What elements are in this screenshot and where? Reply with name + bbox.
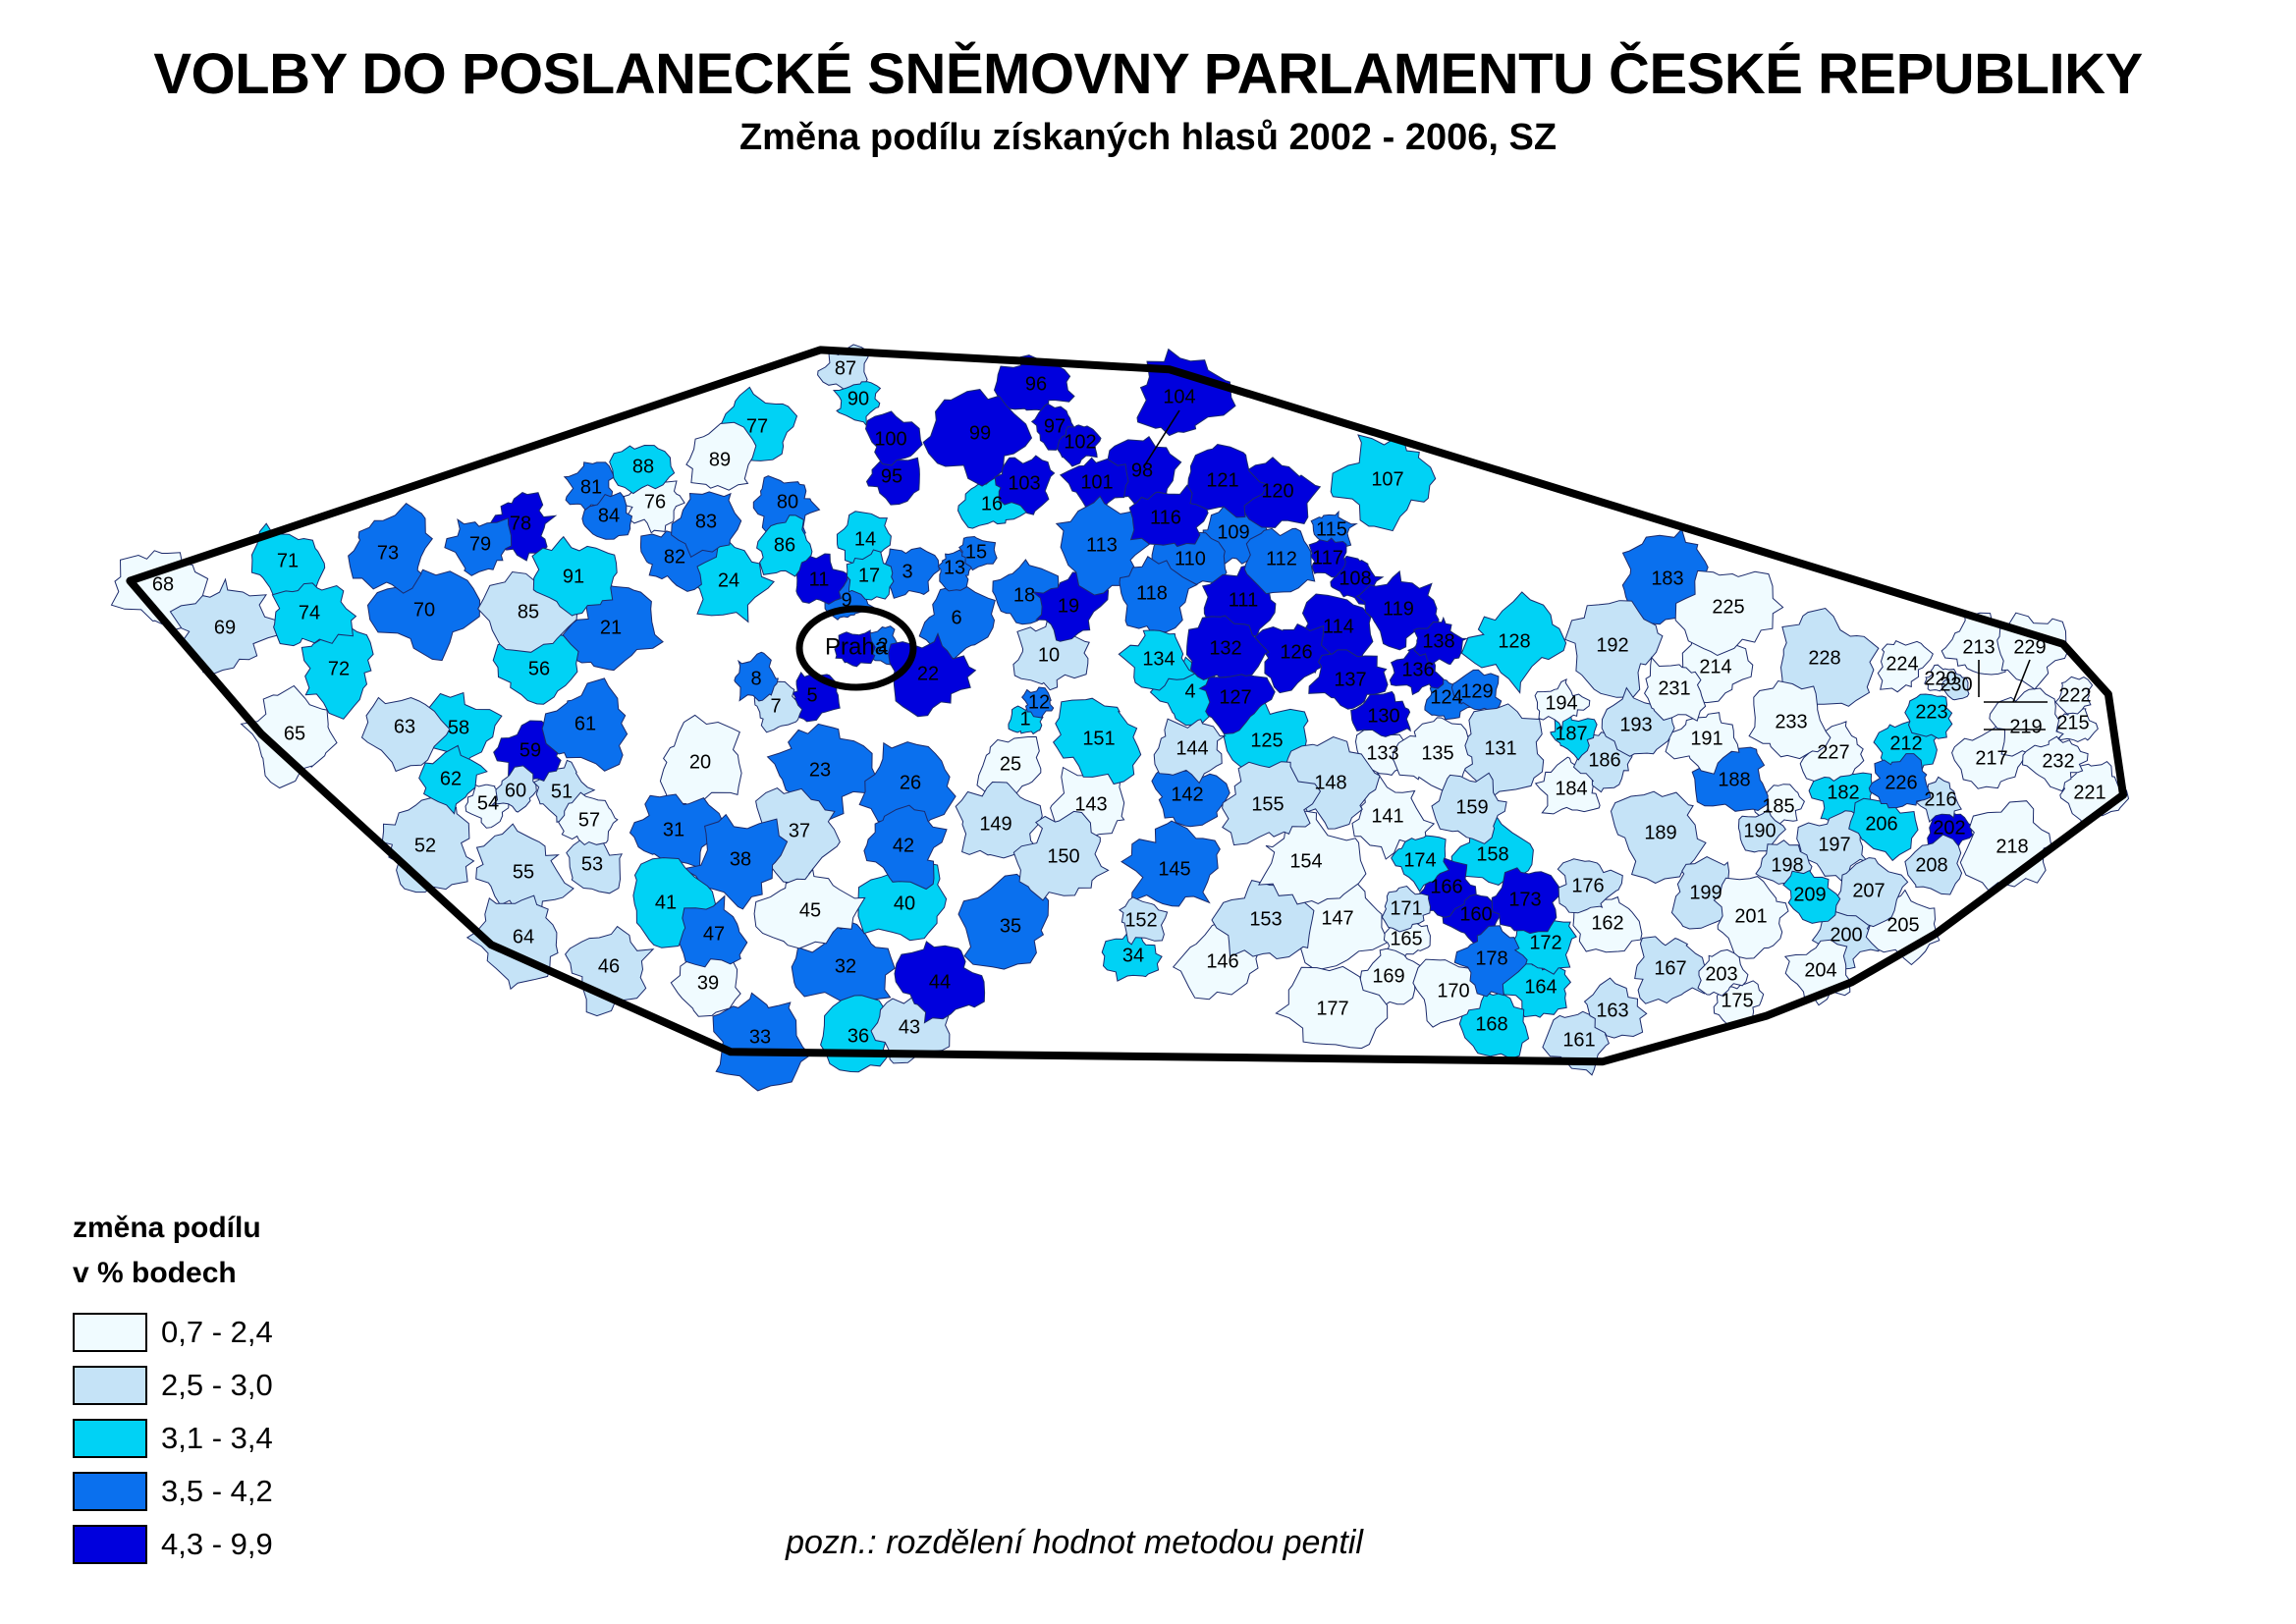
legend-swatch: [73, 1419, 147, 1458]
legend-label: 0,7 - 2,4: [161, 1315, 273, 1350]
map-region[interactable]: [566, 927, 654, 1016]
footnote: pozn.: rozdělení hodnot metodou pentil: [0, 1524, 2296, 1562]
map-region[interactable]: [2055, 677, 2092, 714]
legend-heading-line1: změna podílu: [73, 1206, 397, 1251]
footnote-text: pozn.: rozdělení hodnot metodou pentil: [786, 1524, 1363, 1562]
map-region[interactable]: [1137, 350, 1235, 436]
map-region[interactable]: [1714, 877, 1788, 959]
map-container: 1234567891011121314151617181920212223242…: [0, 187, 2296, 1345]
legend-swatch: [73, 1313, 147, 1352]
legend-row: 3,5 - 4,2: [73, 1465, 397, 1518]
legend-swatch: [73, 1472, 147, 1511]
map-region[interactable]: [467, 895, 558, 989]
map-region[interactable]: [866, 411, 923, 465]
legend-label: 3,1 - 3,4: [161, 1421, 273, 1456]
map-region[interactable]: [835, 630, 875, 667]
map-region[interactable]: [837, 512, 891, 565]
page-title: VOLBY DO POSLANECKÉ SNĚMOVNY PARLAMENTU …: [0, 41, 2296, 107]
map-region[interactable]: [1905, 694, 1952, 738]
legend-label: 2,5 - 3,0: [161, 1368, 273, 1403]
map-region[interactable]: [1905, 835, 1962, 894]
map-region[interactable]: [1869, 754, 1931, 808]
legend: změna podílu v % bodech 0,7 - 2,42,5 - 3…: [73, 1206, 397, 1571]
legend-heading-line2: v % bodech: [73, 1251, 397, 1296]
map-region[interactable]: [1635, 937, 1707, 1003]
map-region[interactable]: [1783, 871, 1840, 924]
legend-row: 0,7 - 2,4: [73, 1306, 397, 1359]
legend-label: 3,5 - 4,2: [161, 1474, 273, 1509]
map-region[interactable]: [382, 796, 473, 893]
region-shapes-layer: [112, 345, 2129, 1091]
map-region[interactable]: [1960, 801, 2050, 891]
title-block: VOLBY DO POSLANECKÉ SNĚMOVNY PARLAMENTU …: [0, 0, 2296, 159]
map-region[interactable]: [1121, 821, 1220, 906]
legend-swatch: [73, 1366, 147, 1405]
map-region[interactable]: [1309, 538, 1346, 577]
map-region[interactable]: [686, 422, 756, 490]
legend-row: 2,5 - 3,0: [73, 1359, 397, 1412]
map-region[interactable]: [735, 652, 778, 701]
map-region[interactable]: [1152, 768, 1230, 827]
choropleth-map[interactable]: 1234567891011121314151617181920212223242…: [0, 187, 2296, 1345]
map-region[interactable]: [445, 518, 512, 576]
map-region[interactable]: [1878, 641, 1933, 692]
page-subtitle: Změna podílu získaných hlasů 2002 - 2006…: [0, 117, 2296, 159]
legend-row: 3,1 - 3,4: [73, 1412, 397, 1465]
